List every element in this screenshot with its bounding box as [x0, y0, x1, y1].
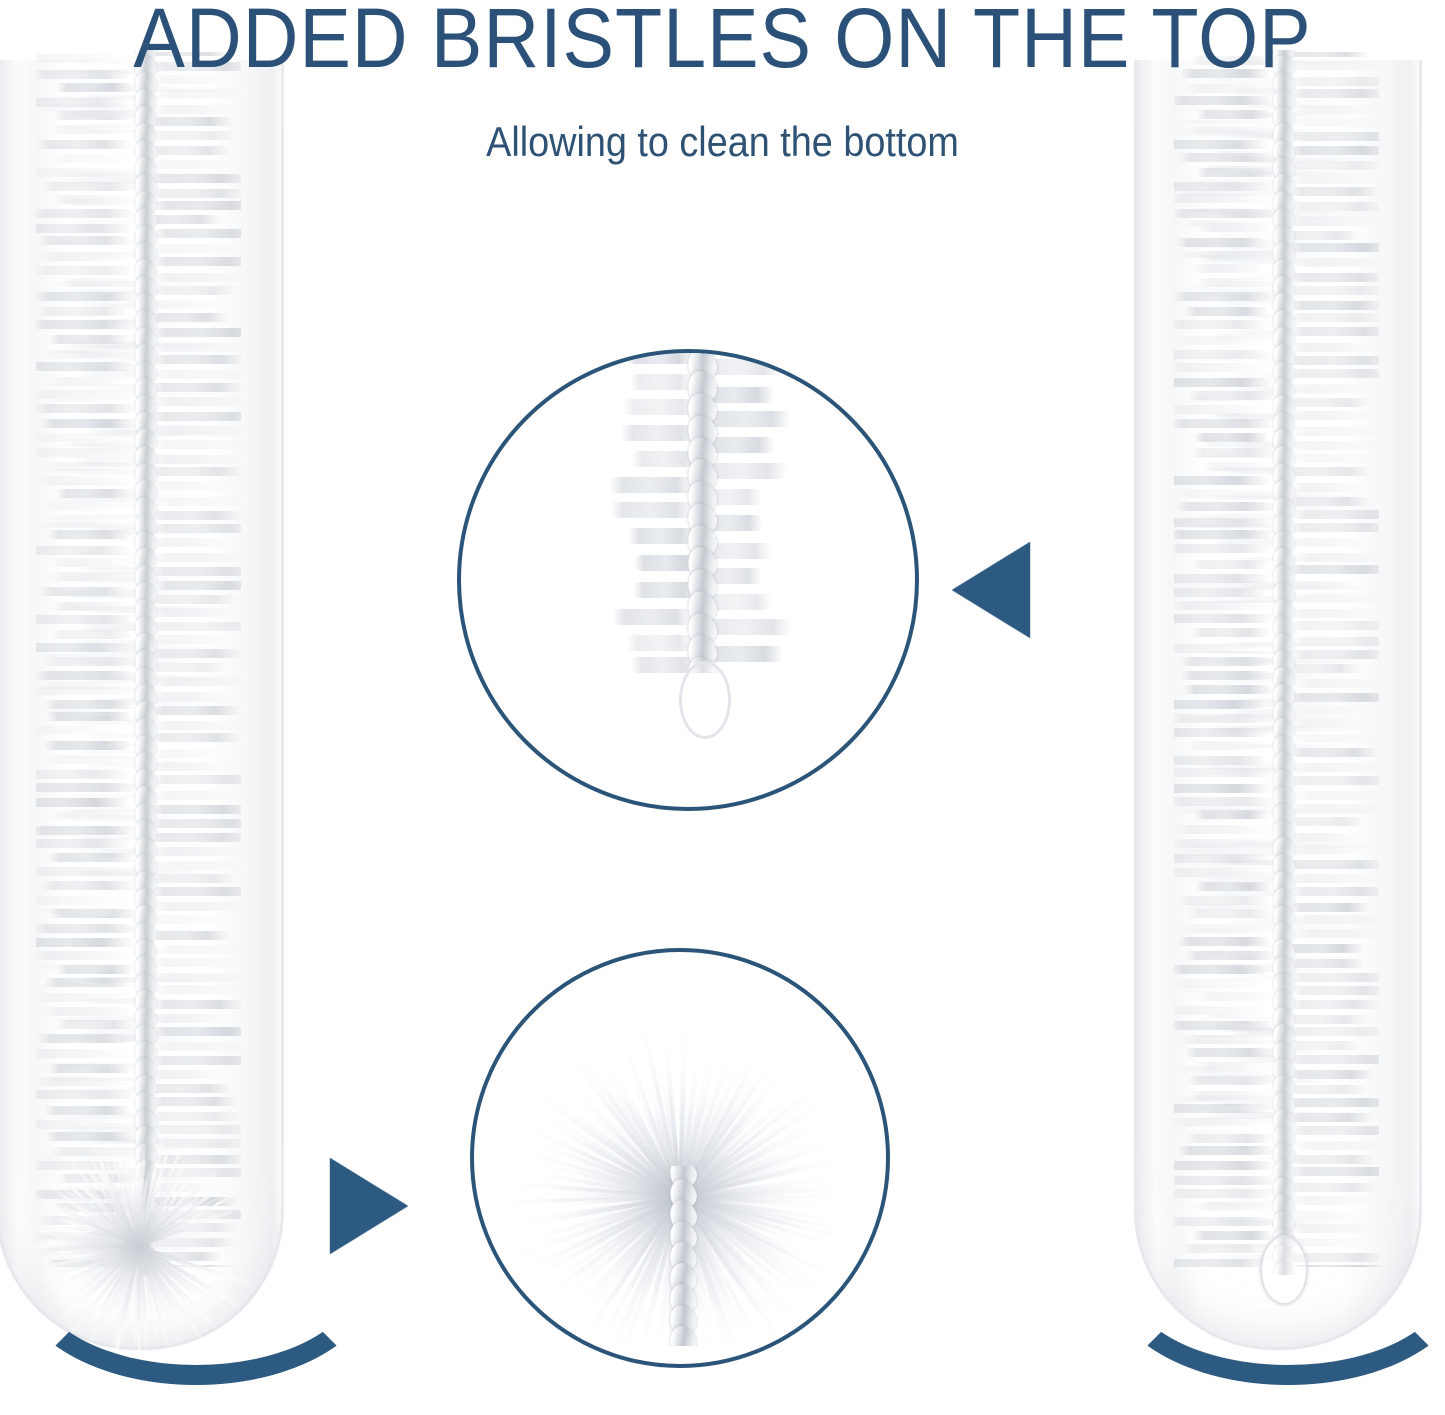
right-brush-wire-core [1271, 50, 1297, 1275]
left-brush-wire-core [133, 50, 159, 1275]
right-brush-product [1128, 60, 1428, 1360]
product-feature-image: ADDED BRISTLES ON THE TOP Allowing to cl… [0, 0, 1445, 1415]
right-brush-crescent-shadow [1108, 1271, 1445, 1415]
page-subtitle: Allowing to clean the bottom [72, 118, 1373, 166]
left-brush-product [0, 60, 290, 1360]
arrow-right-icon [330, 1158, 408, 1254]
zoomed-wire-loop [679, 661, 731, 739]
zoomed-wire-core [685, 349, 719, 673]
zoomed-fan-bristles [500, 986, 860, 1346]
brush-tip-detail-callout [457, 349, 919, 811]
brush-fan-detail-callout [470, 948, 890, 1368]
arrow-left-icon [952, 542, 1030, 638]
page-title: ADDED BRISTLES ON THE TOP [58, 0, 1387, 80]
zoomed-brush-tip [601, 349, 791, 773]
left-brush-crescent-shadow [16, 1271, 376, 1415]
zoomed-fan-wire-core [668, 1166, 698, 1346]
